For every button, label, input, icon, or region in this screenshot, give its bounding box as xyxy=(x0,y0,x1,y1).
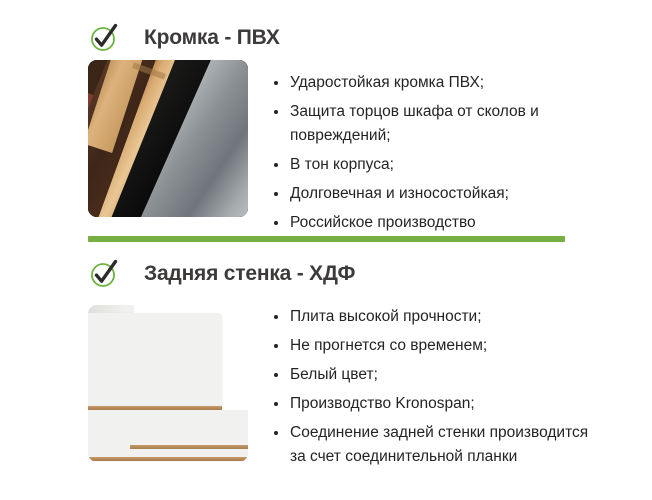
list-item: Белый цвет; xyxy=(272,363,602,387)
section-back-panel: Задняя стенка - ХДФ Плита высокой прочно… xyxy=(0,247,652,500)
section-title-edge-banding: Кромка - ПВХ xyxy=(144,27,280,48)
pvc-edge-banding-rolls-photo xyxy=(88,60,248,217)
check-circle-icon xyxy=(88,256,122,290)
section-heading-edge-banding: Кромка - ПВХ xyxy=(88,20,280,54)
list-item: Плита высокой прочности; xyxy=(272,305,602,329)
hdf-edge-middle xyxy=(130,445,248,449)
list-item: Производство Kronospan; xyxy=(272,392,602,416)
hdf-board-base xyxy=(88,461,248,462)
hdf-edge-top xyxy=(88,406,222,410)
hdf-board-bottom xyxy=(88,410,248,457)
feature-list-edge-banding: Ударостойкая кромка ПВХ; Защита торцов ш… xyxy=(272,71,602,240)
list-item: Защита торцов шкафа от сколов и поврежде… xyxy=(272,100,602,148)
list-item: Ударостойкая кромка ПВХ; xyxy=(272,71,602,95)
list-item: Не прогнется со временем; xyxy=(272,334,602,358)
list-item: Соединение задней стенки производится за… xyxy=(272,421,602,469)
list-item: Российское производство xyxy=(272,211,602,235)
green-section-divider xyxy=(88,236,565,242)
feature-sections-page: Кромка - ПВХ Ударостойкая кромка ПВХ; За… xyxy=(0,0,652,500)
hdf-boards-artwork xyxy=(88,305,248,462)
list-item: Долговечная и износостойкая; xyxy=(272,182,602,206)
section-edge-banding: Кромка - ПВХ Ударостойкая кромка ПВХ; За… xyxy=(0,0,652,232)
feature-list-back-panel: Плита высокой прочности; Не прогнется со… xyxy=(272,305,602,474)
check-circle-icon xyxy=(88,20,122,54)
section-heading-back-panel: Задняя стенка - ХДФ xyxy=(88,256,355,290)
list-item: В тон корпуса; xyxy=(272,153,602,177)
hdf-board-top xyxy=(88,313,222,406)
pvc-rolls-artwork xyxy=(88,60,248,217)
section-title-back-panel: Задняя стенка - ХДФ xyxy=(144,263,355,284)
white-hdf-boards-photo xyxy=(88,305,248,462)
